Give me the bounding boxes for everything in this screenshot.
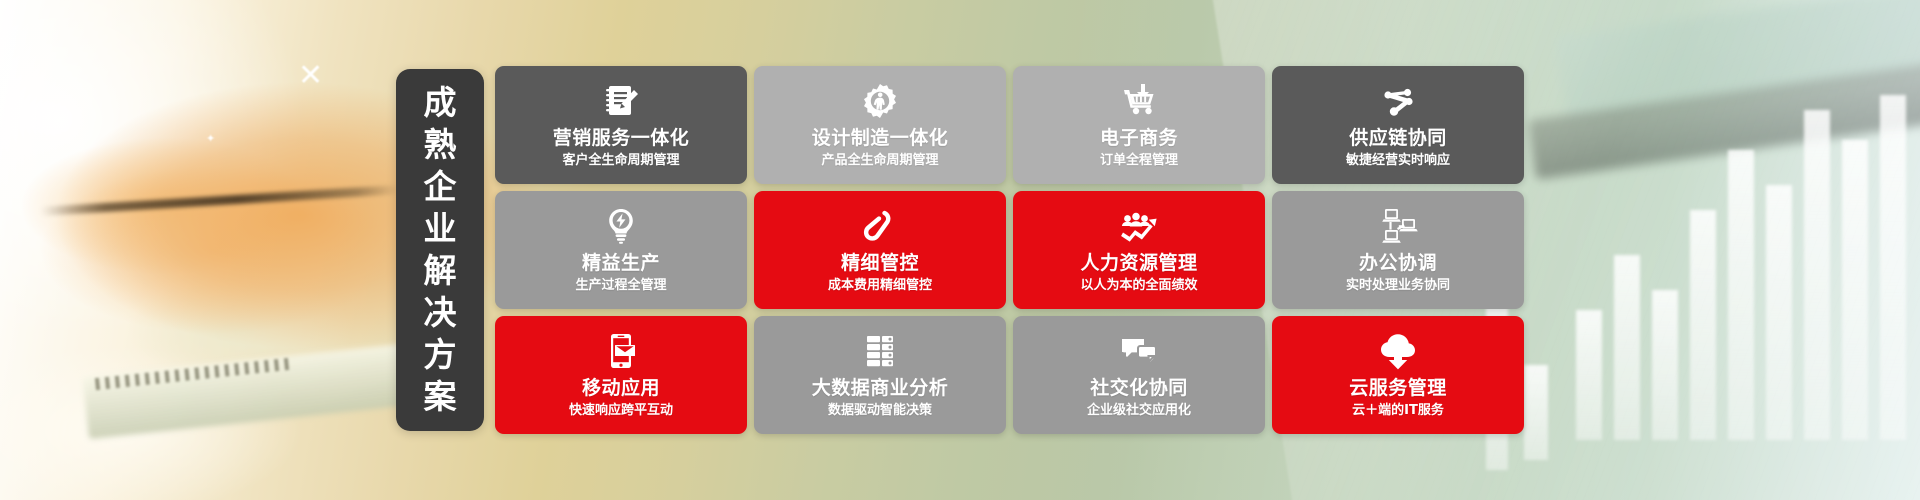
shopping-cart-download-icon <box>1119 81 1159 121</box>
vertical-title-panel: 成 熟 企 业 解 决 方 案 <box>396 69 484 431</box>
solution-card-cloud-service[interactable]: 云服务管理 云＋端的IT服务 <box>1272 316 1524 434</box>
chain-link-icon <box>860 206 900 246</box>
card-title: 社交化协同 <box>1090 378 1188 400</box>
solution-card-supply-chain[interactable]: 供应链协同 敏捷经营实时响应 <box>1272 66 1524 184</box>
solution-card-design-manufacturing[interactable]: 设计制造一体化 产品全生命周期管理 <box>754 66 1006 184</box>
card-title: 精细管控 <box>841 253 919 275</box>
solutions-banner: ✕ ✦ 成 熟 企 业 解 决 方 案 <box>0 0 1920 500</box>
card-subtitle: 数据驱动智能决策 <box>828 404 932 419</box>
solution-card-lean-production[interactable]: 精益生产 生产过程全管理 <box>495 191 747 309</box>
card-subtitle: 实时处理业务协同 <box>1346 279 1450 294</box>
card-subtitle: 快速响应跨平互动 <box>569 404 673 419</box>
card-subtitle: 以人为本的全面绩效 <box>1080 279 1197 294</box>
card-subtitle: 产品全生命周期管理 <box>821 154 938 169</box>
solution-card-hr-management[interactable]: 人力资源管理 以人为本的全面绩效 <box>1013 191 1265 309</box>
title-char: 案 <box>424 376 457 418</box>
network-nodes-icon <box>1378 81 1418 121</box>
card-subtitle: 客户全生命周期管理 <box>562 154 679 169</box>
title-char: 解 <box>424 250 457 292</box>
card-title: 移动应用 <box>582 378 660 400</box>
card-title: 营销服务一体化 <box>553 128 690 150</box>
solution-card-fine-control[interactable]: 精细管控 成本费用精细管控 <box>754 191 1006 309</box>
cloud-download-icon <box>1377 331 1419 371</box>
card-subtitle: 敏捷经营实时响应 <box>1346 154 1450 169</box>
lightbulb-bolt-icon <box>601 206 641 246</box>
title-char: 熟 <box>424 124 457 166</box>
title-char: 企 <box>424 166 457 208</box>
solution-card-big-data-analytics[interactable]: 大数据商业分析 数据驱动智能决策 <box>754 316 1006 434</box>
solution-card-grid: 营销服务一体化 客户全生命周期管理 设计制造一体化 产品全生命周期管理 <box>495 66 1524 434</box>
title-char: 成 <box>424 82 457 124</box>
card-subtitle: 云＋端的IT服务 <box>1352 404 1444 419</box>
solution-card-social-collaboration[interactable]: 社交化协同 企业级社交应用化 <box>1013 316 1265 434</box>
solution-card-marketing-service[interactable]: 营销服务一体化 客户全生命周期管理 <box>495 66 747 184</box>
notebook-pencil-icon <box>601 81 641 121</box>
banner-content: 成 熟 企 业 解 决 方 案 <box>0 0 1920 500</box>
card-subtitle: 订单全程管理 <box>1100 154 1178 169</box>
people-growth-arrow-icon <box>1118 206 1160 246</box>
gear-person-icon <box>860 81 900 121</box>
solution-card-office-coordination[interactable]: 办公协调 实时处理业务协同 <box>1272 191 1524 309</box>
connected-computers-icon <box>1377 206 1419 246</box>
card-subtitle: 成本费用精细管控 <box>828 279 932 294</box>
card-title: 精益生产 <box>582 253 660 275</box>
card-subtitle: 生产过程全管理 <box>575 279 666 294</box>
card-title: 人力资源管理 <box>1080 253 1197 275</box>
title-char: 决 <box>424 292 457 334</box>
card-title: 供应链协同 <box>1349 128 1447 150</box>
card-title: 大数据商业分析 <box>812 378 949 400</box>
card-title: 电子商务 <box>1100 128 1178 150</box>
card-title: 办公协调 <box>1359 253 1437 275</box>
card-title: 云服务管理 <box>1349 378 1447 400</box>
mobile-message-icon <box>601 331 641 371</box>
title-char: 业 <box>424 208 457 250</box>
solution-card-mobile-app[interactable]: 移动应用 快速响应跨平互动 <box>495 316 747 434</box>
chat-bubbles-icon <box>1118 331 1160 371</box>
database-stack-icon <box>860 331 900 371</box>
solution-card-ecommerce[interactable]: 电子商务 订单全程管理 <box>1013 66 1265 184</box>
card-title: 设计制造一体化 <box>812 128 949 150</box>
card-subtitle: 企业级社交应用化 <box>1087 404 1191 419</box>
title-char: 方 <box>424 334 457 376</box>
